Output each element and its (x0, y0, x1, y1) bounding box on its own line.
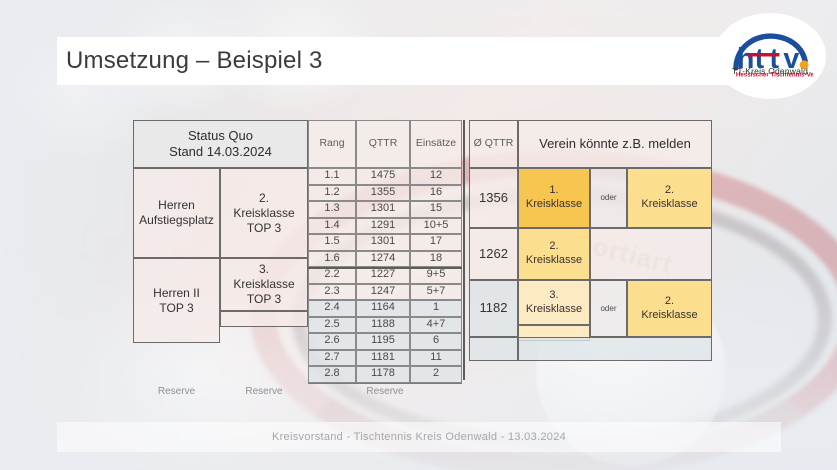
player-row-7-rang: 2.2 (308, 267, 356, 284)
player-row-3-qttr: 1301 (356, 201, 410, 218)
player-row-7-einsaetze: 9+5 (410, 267, 462, 284)
proposal-1-alternative[interactable]: 2. Kreisklasse (627, 168, 712, 228)
group-1-class: 2. Kreisklasse TOP 3 (220, 168, 308, 258)
group-2-class-line2: Kreisklasse (233, 277, 294, 292)
player-row-4-qttr: 1291 (356, 218, 410, 235)
group-2-class-spacer (220, 311, 308, 327)
footer-text: Kreisvorstand - Tischtennis Kreis Odenwa… (57, 431, 781, 443)
proposal-3-primary-line2: Kreisklasse (526, 303, 582, 317)
group-2-team: Herren II TOP 3 (133, 258, 220, 343)
player-row-6-qttr: 1274 (356, 251, 410, 268)
avg-qttr-empty (469, 337, 518, 361)
page-title: Umsetzung – Beispiel 3 (66, 47, 323, 75)
player-row-11-einsaetze: 6 (410, 333, 462, 350)
player-row-10-rang: 2.5 (308, 317, 356, 334)
group-2-class: 3. Kreisklasse TOP 3 (220, 258, 308, 311)
reserve-middle: Reserve (220, 380, 308, 404)
player-row-11-rang: 2.6 (308, 333, 356, 350)
player-row-4-einsaetze: 10+5 (410, 218, 462, 235)
player-row-9-rang: 2.4 (308, 300, 356, 317)
player-row-1-qttr: 1475 (356, 168, 410, 185)
proposal-3-primary[interactable]: 3. Kreisklasse (518, 280, 590, 325)
proposal-1-alt-line2: Kreisklasse (641, 198, 697, 212)
avg-qttr-row-1: 1356 (469, 168, 518, 228)
group-1-class-line1: 2. (259, 191, 269, 206)
player-group-divider (308, 267, 462, 269)
proposal-1-primary-line2: Kreisklasse (526, 198, 582, 212)
player-row-10-einsaetze: 4+7 (410, 317, 462, 334)
proposal-3-alt-line2: Kreisklasse (641, 309, 697, 323)
player-row-8-einsaetze: 5+7 (410, 284, 462, 301)
group-2-class-line1: 3. (259, 262, 269, 277)
player-row-2-rang: 1.2 (308, 185, 356, 202)
player-row-9-einsaetze: 1 (410, 300, 462, 317)
player-row-2-qttr: 1355 (356, 185, 410, 202)
reserve-left: Reserve (133, 380, 220, 404)
group-1-team: Herren Aufstiegsplatz (133, 168, 220, 258)
group-2-team-line1: Herren II (153, 286, 200, 301)
proposal-3-primary-line1: 3. (549, 289, 558, 303)
header-status-quo: Status Quo Stand 14.03.2024 (133, 120, 308, 168)
header-rang: Rang (308, 120, 356, 168)
proposal-3-alt-line1: 2. (665, 295, 674, 309)
header-verein: Verein könnte z.B. melden (518, 120, 712, 168)
header-avg-qttr: Ø QTTR (469, 120, 518, 168)
avg-qttr-row-2: 1262 (469, 228, 518, 280)
player-row-5-einsaetze: 17 (410, 234, 462, 251)
proposal-1-alt-line1: 2. (665, 184, 674, 198)
player-row-8-qttr: 1247 (356, 284, 410, 301)
slide-canvas: sportiart Umsetzung – Beispiel 3 h t t v… (0, 0, 837, 470)
avg-qttr-row-3: 1182 (469, 280, 518, 337)
proposal-2-empty (590, 228, 712, 280)
proposal-1-primary-line1: 1. (549, 184, 558, 198)
player-row-1-einsaetze: 12 (410, 168, 462, 185)
reserve-right: Reserve (308, 380, 462, 404)
player-row-2-einsaetze: 16 (410, 185, 462, 202)
group-1-team-line2: Aufstiegsplatz (139, 213, 214, 228)
player-row-6-rang: 1.6 (308, 251, 356, 268)
proposal-3-alternative[interactable]: 2. Kreisklasse (627, 280, 712, 337)
group-2-class-line3: TOP 3 (247, 292, 281, 307)
proposal-2-primary[interactable]: 2. Kreisklasse (518, 228, 590, 280)
player-row-11-qttr: 1195 (356, 333, 410, 350)
player-row-5-qttr: 1301 (356, 234, 410, 251)
proposal-3-connector: oder (590, 280, 627, 337)
player-row-1-rang: 1.1 (308, 168, 356, 185)
player-row-7-qttr: 1227 (356, 267, 410, 284)
player-row-12-qttr: 1181 (356, 350, 410, 367)
header-status-quo-line1: Status Quo (188, 128, 253, 144)
logo-subtitle: TT-Kreis Odenwald (714, 66, 826, 76)
group-1-class-line3: TOP 3 (247, 221, 281, 236)
player-row-3-einsaetze: 15 (410, 201, 462, 218)
header-qttr: QTTR (356, 120, 410, 168)
player-row-12-einsaetze: 11 (410, 350, 462, 367)
player-row-4-rang: 1.4 (308, 218, 356, 235)
header-status-quo-line2: Stand 14.03.2024 (169, 144, 272, 160)
player-row-10-qttr: 1188 (356, 317, 410, 334)
player-row-6-einsaetze: 18 (410, 251, 462, 268)
player-row-8-rang: 2.3 (308, 284, 356, 301)
table-divider (463, 120, 465, 380)
player-row-5-rang: 1.5 (308, 234, 356, 251)
proposal-1-primary[interactable]: 1. Kreisklasse (518, 168, 590, 228)
player-row-9-qttr: 1164 (356, 300, 410, 317)
proposal-1-connector: oder (590, 168, 627, 228)
group-1-team-line1: Herren (158, 198, 195, 213)
group-2-team-line2: TOP 3 (159, 301, 193, 316)
header-einsaetze: Einsätze (410, 120, 462, 168)
player-row-12-rang: 2.7 (308, 350, 356, 367)
proposal-2-primary-line1: 2. (549, 240, 558, 254)
proposal-2-primary-line2: Kreisklasse (526, 254, 582, 268)
player-row-3-rang: 1.3 (308, 201, 356, 218)
proposal-bottom-empty (518, 337, 712, 361)
group-1-class-line2: Kreisklasse (233, 206, 294, 221)
